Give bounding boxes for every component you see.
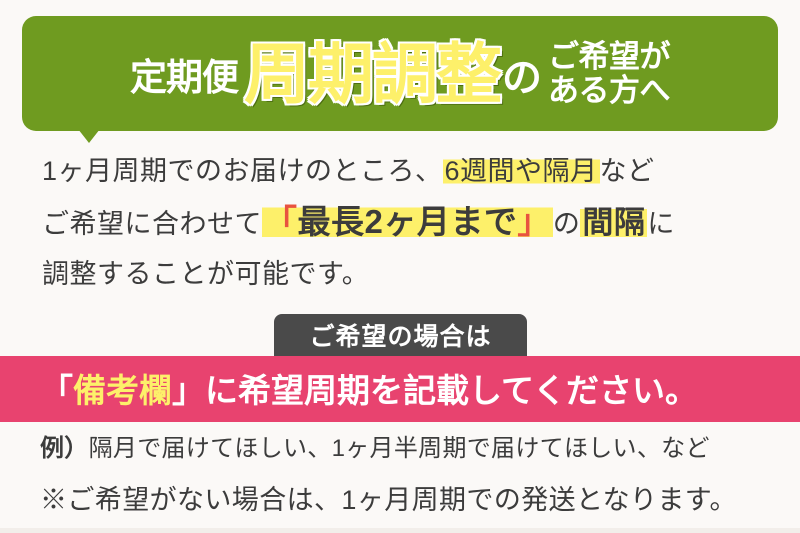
body-paragraph: 1ヶ月周期でのお届けのところ、6週間や隔月など ご希望に合わせて「最長2ヶ月まで… [42, 148, 772, 298]
body-line-1-highlight: 6週間や隔月 [443, 156, 600, 186]
example-prefix: 例） [40, 435, 89, 462]
body-line-2-interval-word: 間隔 [580, 205, 647, 240]
bottom-edge-divider [0, 528, 800, 533]
body-line-2-text-c: に [647, 209, 675, 239]
header-banner: 定期便 周期調整 の ご希望が ある方へ [22, 16, 778, 131]
note-line: ※ご希望がない場合は、1ヶ月周期での発送となります。 [40, 478, 780, 517]
body-line-1-text-a: 1ヶ月周期でのお届けのところ、 [42, 156, 443, 186]
quote-inner-text: 最長2ヶ月まで [298, 203, 518, 240]
banner-particle: の [502, 45, 542, 103]
body-line-2: ご希望に合わせて「最長2ヶ月まで」の間隔に [42, 194, 772, 251]
banner-suffix-line-2: ある方へ [548, 74, 670, 107]
promo-page: 定期便 周期調整 の ご希望が ある方へ 1ヶ月周期でのお届けのところ、6週間や… [0, 0, 800, 533]
quote-open-bracket: 「 [264, 203, 298, 240]
banner-prefix-label: 定期便 [130, 47, 238, 101]
body-line-2-text-b: の [553, 209, 581, 239]
pink-band-text: 「備考欄」に希望周期を記載してください。 [40, 364, 780, 412]
body-line-2-text-a: ご希望に合わせて [42, 209, 262, 239]
pink-quote-open: 「 [40, 372, 73, 409]
banner-pointer-triangle [78, 129, 100, 143]
example-line: 例）隔月で届けてほしい、1ヶ月半周期で届けてほしい、など [40, 428, 780, 463]
pink-quote-close: 」 [172, 372, 205, 409]
pink-instruction-text: に希望周期を記載してください。 [205, 372, 698, 409]
body-line-3: 調整することが可能です。 [42, 251, 772, 297]
banner-suffix: ご希望が ある方へ [548, 40, 670, 107]
body-line-1: 1ヶ月周期でのお届けのところ、6週間や隔月など [42, 148, 772, 194]
pink-remarks-field-word: 備考欄 [73, 372, 172, 409]
quote-close-bracket: 」 [517, 203, 551, 240]
example-text: 隔月で届けてほしい、1ヶ月半周期で届けてほしい、など [89, 435, 710, 462]
body-line-2-quoted-phrase: 「最長2ヶ月まで」 [262, 203, 553, 240]
banner-suffix-line-1: ご希望が [548, 40, 670, 73]
header-banner-content: 定期便 周期調整 の ご希望が ある方へ [22, 40, 778, 107]
body-line-1-text-b: など [600, 156, 655, 186]
request-case-ribbon-label: ご希望の場合は [309, 317, 491, 353]
request-case-ribbon: ご希望の場合は [274, 314, 527, 356]
banner-headline: 周期調整 [244, 41, 500, 107]
